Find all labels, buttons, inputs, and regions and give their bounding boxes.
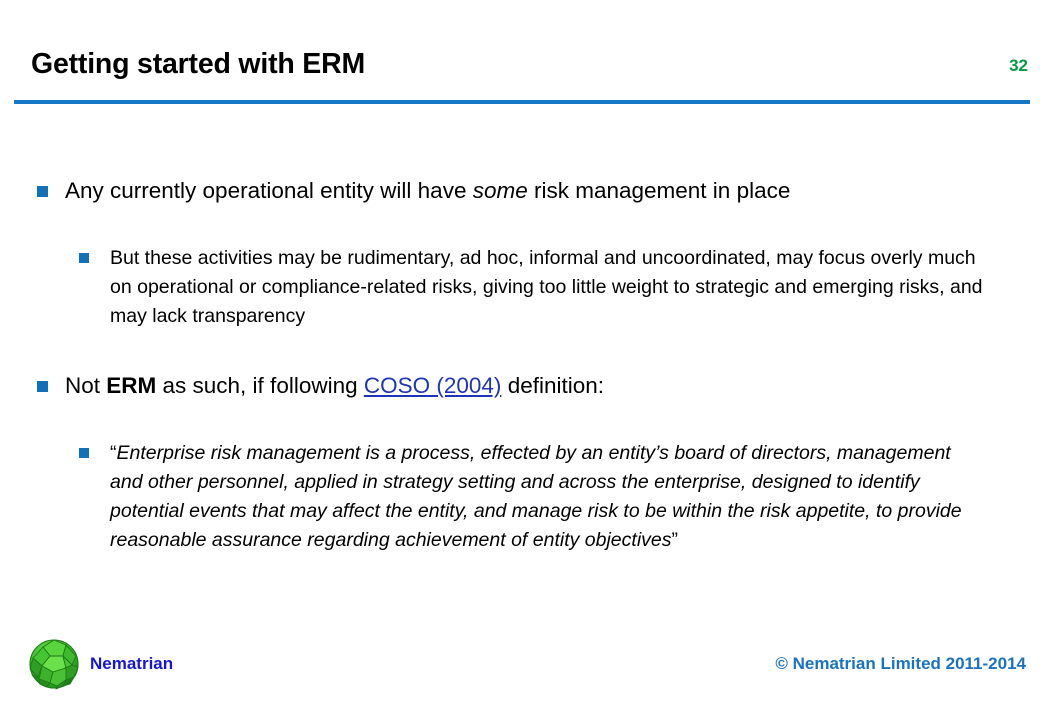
sub-bullet-text: But these activities may be rudimentary,… <box>110 247 983 327</box>
title-divider <box>14 100 1030 104</box>
spacer <box>0 423 1040 439</box>
slide: Getting started with ERM 32 Any currentl… <box>0 0 1040 720</box>
bullet-level1-item-1: Any currently operational entity will ha… <box>0 176 1040 206</box>
square-bullet-icon <box>37 381 48 392</box>
bullet1-text-part-a: Any currently operational entity will ha… <box>65 178 473 203</box>
slide-body: Any currently operational entity will ha… <box>0 176 1040 581</box>
bullet2-text-part-a: Not <box>65 373 106 398</box>
bullet-text: Any currently operational entity will ha… <box>65 178 790 203</box>
bullet-level2-item-2: “Enterprise risk management is a process… <box>0 439 1040 555</box>
bullet2-strong: ERM <box>106 373 156 398</box>
spacer <box>0 228 1040 244</box>
coso-link[interactable]: COSO (2004) <box>364 373 502 398</box>
bullet-text: Not ERM as such, if following COSO (2004… <box>65 373 604 398</box>
nematrian-polyhedron-logo-icon <box>26 636 82 692</box>
bullet1-emphasis: some <box>473 178 528 203</box>
bullet2-text-part-b: as such, if following <box>156 373 364 398</box>
copyright-notice: © Nematrian Limited 2011-2014 <box>775 654 1026 674</box>
square-bullet-icon <box>37 186 48 197</box>
close-quote-mark: ” <box>672 529 679 551</box>
coso-definition-quote: Enterprise risk management is a process,… <box>110 442 962 551</box>
bullet-level1-item-2: Not ERM as such, if following COSO (2004… <box>0 371 1040 401</box>
page-title: Getting started with ERM <box>31 48 365 81</box>
bullet-level2-item-1: But these activities may be rudimentary,… <box>0 244 1040 331</box>
slide-header: Getting started with ERM 32 <box>0 48 1040 106</box>
bullet2-text-part-c: definition: <box>501 373 604 398</box>
brand-name: Nematrian <box>90 654 173 674</box>
page-number: 32 <box>1009 56 1028 76</box>
square-bullet-icon <box>79 253 89 263</box>
slide-footer: Nematrian © Nematrian Limited 2011-2014 <box>0 632 1040 720</box>
bullet1-text-part-b: risk management in place <box>528 178 791 203</box>
square-bullet-icon <box>79 448 89 458</box>
spacer <box>0 357 1040 371</box>
quotation-text: “Enterprise risk management is a process… <box>110 442 962 551</box>
